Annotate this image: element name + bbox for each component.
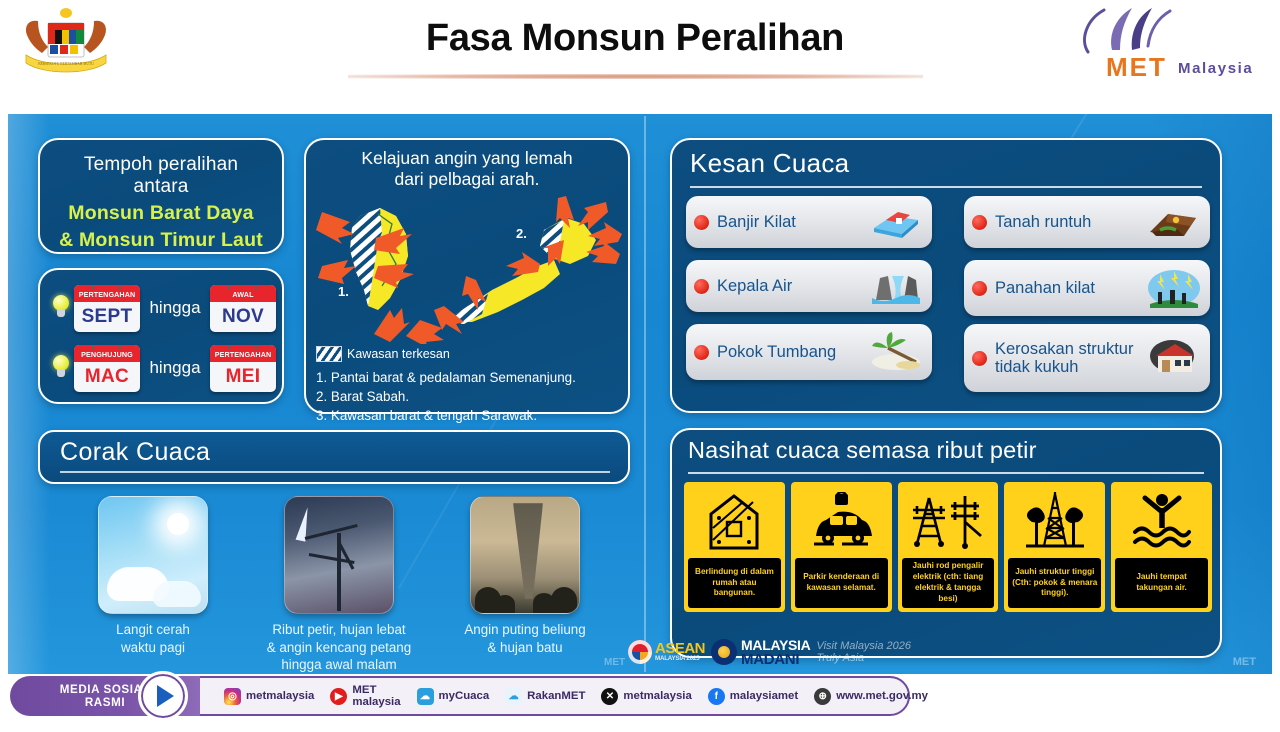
calendar-end-2: PERTENGAHAN MEI [210,345,276,392]
clear-sky-photo [98,496,208,614]
caption-line: & hujan batu [430,639,620,657]
angin-heading-line-2: dari pelbagai arah. [316,169,618,190]
social-item-mycuaca[interactable]: ☁ myCuaca [417,688,490,705]
madani-mark-icon [711,639,737,665]
caption-line: Ribut petir, hujan lebat [244,621,434,639]
advice-card-row: Berlindung di dalam rumah atau bangunan. [684,482,1212,612]
tempoh-line-2: antara [50,176,272,198]
affected-area-item: 3. Kawasan barat & tengah Sarawak. [316,406,618,425]
weather-photo-item: Ribut petir, hujan lebat & angin kencang… [244,496,434,674]
calendar-end-1: AWAL NOV [210,285,276,332]
facebook-icon: f [708,688,725,705]
kesan-chip-banjir-kilat[interactable]: Banjir Kilat [686,196,932,248]
madani-line-1: MALAYSIA [741,638,810,652]
corak-cuaca-photos: Langit cerah waktu pagi Ribut petir, huj… [38,496,630,666]
website-globe-icon: ⊕ [814,688,831,705]
caption-line: Langit cerah [58,621,248,639]
locked-car-icon [795,486,888,558]
shelter-house-icon [688,486,781,558]
caption-line: Angin puting beliung [430,621,620,639]
bullet-dot-icon [972,281,987,296]
weather-photo-item: Langit cerah waktu pagi [58,496,248,656]
mycuaca-app-icon: ☁ [417,688,434,705]
period-row-1: PERTENGAHAN SEPT hingga AWAL NOV [52,282,276,334]
caption-line: hingga awal malam [244,656,434,674]
kesan-chip-kepala-air[interactable]: Kepala Air [686,260,932,312]
section-underline [690,186,1202,188]
panel-nasihat-cuaca: Nasihat cuaca semasa ribut petir [670,428,1222,658]
kesan-chip-panahan-kilat[interactable]: Panahan kilat [964,260,1210,316]
social-item-x-twitter[interactable]: ✕ metmalaysia [601,688,691,705]
svg-text:2.: 2. [516,226,527,241]
tall-tower-icon [1008,486,1101,558]
youtube-icon: ▶ [330,688,347,705]
advice-caption: Berlindung di dalam rumah atau bangunan. [688,558,781,608]
madani-line-2: MADANI [741,652,810,667]
title-underline [348,74,923,79]
malaysia-madani-logo: MALAYSIA MADANI [711,638,810,667]
play-button[interactable] [138,671,188,721]
legend-label: Kawasan terkesan [347,347,450,361]
jata-negara-crest: BERSEKUTU BERTAMBAH MUTU [14,5,118,77]
right-column: Kesan Cuaca Banjir Kilat [656,118,1266,670]
period-connector: hingga [140,298,210,318]
advice-card-berlindung[interactable]: Berlindung di dalam rumah atau bangunan. [684,482,785,612]
advice-caption: Parkir kenderaan di kawasan selamat. [795,558,888,608]
chip-label: Panahan kilat [995,279,1146,297]
chip-label: Banjir Kilat [717,213,868,231]
calendar-start-2: PENGHUJUNG MAC [74,345,140,392]
advice-caption: Jauhi struktur tinggi (Cth: pokok & mena… [1008,558,1101,608]
hatched-area-swatch-icon [316,346,342,362]
power-pylon-icon [902,486,995,558]
chip-label: Kerosakan struktur tidak kukuh [995,340,1146,377]
partner-logos: ASEAN MALAYSIA 2025 MALAYSIA MADANI Visi… [628,630,928,674]
title-block: Fasa Monsun Peralihan [345,18,925,79]
nasihat-title: Nasihat cuaca semasa ribut petir [672,430,1220,464]
asean-malaysia-2025-logo: ASEAN MALAYSIA 2025 [628,640,705,664]
header: BERSEKUTU BERTAMBAH MUTU Fasa Monsun Per… [0,0,1280,108]
advice-card-parkir[interactable]: Parkir kenderaan di kawasan selamat. [791,482,892,612]
advice-card-rod-elektrik[interactable]: Jauhi rod pengalir elektrik (cth: tiang … [898,482,999,612]
bullet-dot-icon [694,345,709,360]
panel-corak-cuaca-header: Corak Cuaca [38,430,630,484]
chip-label: Tanah runtuh [995,213,1146,231]
social-item-instagram[interactable]: ◎ metmalaysia [224,688,314,705]
social-handle: metmalaysia [623,690,691,702]
advice-caption: Jauhi rod pengalir elektrik (cth: tiang … [902,558,995,608]
calendar-month: MAC [74,362,140,392]
social-handle: MET malaysia [352,684,400,708]
met-logo-text: MET [1106,52,1167,83]
affected-areas-list: 1. Pantai barat & pedalaman Semenanjung.… [316,368,618,425]
social-handle: myCuaca [439,690,490,702]
bullet-dot-icon [972,351,987,366]
bullet-dot-icon [694,279,709,294]
thunderstorm-photo [284,496,394,614]
social-label-line-2: RASMI [85,696,125,709]
section-underline [688,472,1204,474]
section-underline [60,471,610,473]
visit-malaysia-logo: Visit Malaysia 2026 Truly Asia [816,640,928,664]
social-item-website[interactable]: ⊕ www.met.gov.my [814,688,928,705]
met-watermark: MET [604,657,625,668]
rakanmet-icon: ☁ [505,688,522,705]
calendar-month: SEPT [74,302,140,332]
advice-caption: Jauhi tempat takungan air. [1115,558,1208,608]
landslide-icon [1146,202,1202,242]
map-legend: Kawasan terkesan [316,346,618,362]
tempoh-line-4: & Monsun Timur Laut [50,229,272,252]
panel-tempoh-bulan: PERTENGAHAN SEPT hingga AWAL NOV PENGHUJ… [38,268,284,404]
caption-line: waktu pagi [58,639,248,657]
page-title: Fasa Monsun Peralihan [345,18,925,60]
calendar-rings-icon [74,345,140,350]
chip-label: Kepala Air [717,277,868,295]
lightbulb-icon [52,355,70,381]
advice-card-struktur-tinggi[interactable]: Jauhi struktur tinggi (Cth: pokok & mena… [1004,482,1105,612]
period-connector: hingga [140,358,210,378]
calendar-start-1: PERTENGAHAN SEPT [74,285,140,332]
kesan-cuaca-title: Kesan Cuaca [672,140,1220,179]
tempoh-line-1: Tempoh peralihan [50,154,272,176]
fallen-tree-icon [868,332,924,372]
instagram-icon: ◎ [224,688,241,705]
chip-label: Pokok Tumbang [717,343,868,361]
social-handle: www.met.gov.my [836,690,928,702]
calendar-month: NOV [210,302,276,332]
asean-logo-sub: MALAYSIA 2025 [655,656,705,662]
social-item-facebook[interactable]: f malaysiamet [708,688,798,705]
flash-flood-icon [868,202,924,242]
play-triangle-icon [157,685,174,707]
affected-area-item: 1. Pantai barat & pedalaman Semenanjung. [316,368,618,387]
bullet-dot-icon [972,215,987,230]
calendar-rings-icon [210,345,276,350]
social-handle: RakanMET [527,690,585,702]
kesan-chip-kerosakan-struktur[interactable]: Kerosakan struktur tidak kukuh [964,324,1210,392]
bullet-dot-icon [694,215,709,230]
panel-tempoh-peralihan: Tempoh peralihan antara Monsun Barat Day… [38,138,284,254]
weather-photo-item: Angin puting beliung & hujan batu [430,496,620,656]
tempoh-line-3: Monsun Barat Daya [50,202,272,225]
water-surge-icon [868,266,924,306]
calendar-rings-icon [74,285,140,290]
kesan-chip-tanah-runtuh[interactable]: Tanah runtuh [964,196,1210,248]
column-divider [644,116,646,672]
social-label-line-1: MEDIA SOSIAL [60,683,151,696]
panel-kelajuan-angin: Kelajuan angin yang lemah dari pelbagai … [304,138,630,414]
poster-body: Tempoh peralihan antara Monsun Barat Day… [8,114,1272,674]
social-item-rakanmet[interactable]: ☁ RakanMET [505,688,585,705]
asean-logo-name: ASEAN [655,641,705,656]
met-watermark: MET [1233,656,1256,668]
kesan-chip-pokok-tumbang[interactable]: Pokok Tumbang [686,324,932,380]
calendar-month: MEI [210,362,276,392]
photo-caption: Angin puting beliung & hujan batu [430,621,620,656]
photo-caption: Ribut petir, hujan lebat & angin kencang… [244,621,434,674]
panel-kesan-cuaca: Kesan Cuaca Banjir Kilat [670,138,1222,413]
x-twitter-icon: ✕ [601,688,618,705]
infographic-page: BERSEKUTU BERTAMBAH MUTU Fasa Monsun Per… [0,0,1280,732]
person-in-water-icon [1115,486,1208,558]
met-logo-subtext: Malaysia [1178,60,1253,77]
advice-card-takungan-air[interactable]: Jauhi tempat takungan air. [1111,482,1212,612]
photo-caption: Langit cerah waktu pagi [58,621,248,656]
social-item-youtube[interactable]: ▶ MET malaysia [330,684,400,708]
lightning-strike-icon [1146,268,1202,308]
calendar-rings-icon [210,285,276,290]
caption-line: & angin kencang petang [244,639,434,657]
met-malaysia-logo: MET Malaysia [1074,6,1252,84]
svg-text:1.: 1. [338,284,349,299]
angin-heading-line-1: Kelajuan angin yang lemah [316,148,618,169]
tornado-photo [470,496,580,614]
lightbulb-icon [52,295,70,321]
social-accounts-container: ◎ metmalaysia ▶ MET malaysia ☁ myCuaca ☁… [160,676,910,716]
period-row-2: PENGHUJUNG MAC hingga PERTENGAHAN MEI [52,342,276,394]
social-media-bar: ◎ metmalaysia ▶ MET malaysia ☁ myCuaca ☁… [10,676,910,716]
left-column: Tempoh peralihan antara Monsun Barat Day… [14,118,644,670]
social-handle: malaysiamet [730,690,798,702]
asean-swirl-icon [628,640,652,664]
social-handle: metmalaysia [246,690,314,702]
affected-area-item: 2. Barat Sabah. [316,387,618,406]
svg-text:BERSEKUTU BERTAMBAH MUTU: BERSEKUTU BERTAMBAH MUTU [38,62,94,66]
damaged-house-icon [1146,338,1202,378]
malaysia-wind-map: 1. 2. 3. [316,194,618,344]
corak-cuaca-title: Corak Cuaca [40,432,628,467]
